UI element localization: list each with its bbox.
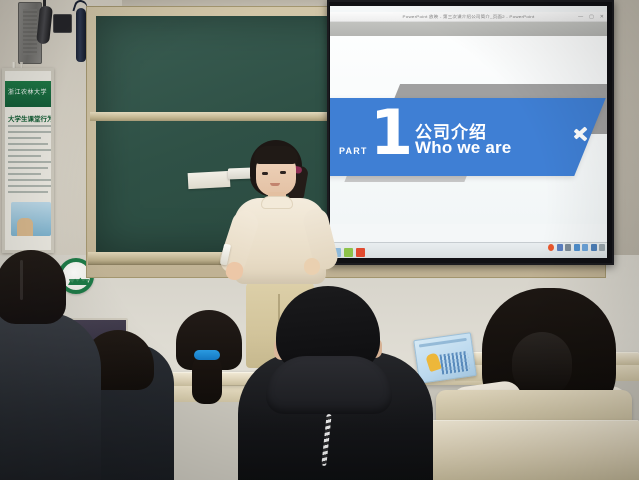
window-controls[interactable]: — ▢ ✕ [578,12,604,22]
poster-photo [11,202,51,236]
powerpoint-ribbon [330,22,607,36]
app-icon[interactable] [557,244,563,251]
cloud-icon[interactable] [591,244,597,251]
slide-heading-english: Who we are [415,138,511,158]
wall-box [53,14,72,33]
student-front-left-hair-part [20,260,23,300]
system-tray[interactable] [548,244,605,251]
student-hood-fold [266,356,392,414]
poster-header: 浙江农林大学 [5,81,51,107]
booklet-bars [439,351,470,375]
presenter-hand-left [304,258,320,275]
student-front-left-head [0,250,66,324]
presenter-fringe [254,146,298,164]
presenter-collar [261,196,293,209]
projection-screen: PowerPoint 放映 - 第三次课介绍公司简介_页面2 - PowerPo… [330,6,607,258]
presenter-eye-right [280,171,286,174]
folder-icon[interactable] [344,248,353,257]
volume-icon[interactable] [574,244,580,251]
slide-text-group: PART 1 公司介绍 Who we are [330,98,607,176]
powerpoint-titlebar: PowerPoint 放映 - 第三次课介绍公司简介_页面2 - PowerPo… [330,12,607,22]
student-front-left [0,250,78,480]
maximize-button[interactable]: ▢ [589,15,594,20]
slide-part-label: PART [339,146,368,156]
ime-icon[interactable] [582,244,588,251]
student-ponytail-tail [192,354,222,404]
minimize-button[interactable]: — [578,15,583,20]
presenter-eye-left [262,172,268,175]
chalk-note [188,171,231,189]
poster-body-text [8,125,54,197]
chevron-right-icon [573,116,593,150]
battery-icon[interactable] [599,244,605,251]
slide-section-number: 1 [370,102,413,164]
window-title: PowerPoint 放映 - 第三次课介绍公司简介_页面2 - PowerPo… [403,14,535,19]
slide-canvas: PART 1 公司介绍 Who we are [330,36,607,224]
poster-title: 大学生课堂行为规范 [8,113,54,123]
presenter-mouth [270,183,280,186]
sogou-icon[interactable] [548,244,554,251]
student-front-left-jacket [0,312,101,480]
classroom-photo: 浙江农林大学 大学生课堂行为规范 PowerPoint 放映 - 第三次课介绍公… [0,0,639,480]
network-icon[interactable] [565,244,571,251]
pdf-icon[interactable] [356,248,365,257]
windows-taskbar[interactable] [330,242,607,258]
student-black-hoodie [238,286,433,480]
blue-hair-tie-icon [194,350,220,360]
close-button[interactable]: ✕ [600,15,604,20]
lecture-chair-right [436,390,632,422]
wall-poster: 浙江农林大学 大学生课堂行为规范 [2,68,54,253]
poster-header-text: 浙江农林大学 [8,87,47,96]
